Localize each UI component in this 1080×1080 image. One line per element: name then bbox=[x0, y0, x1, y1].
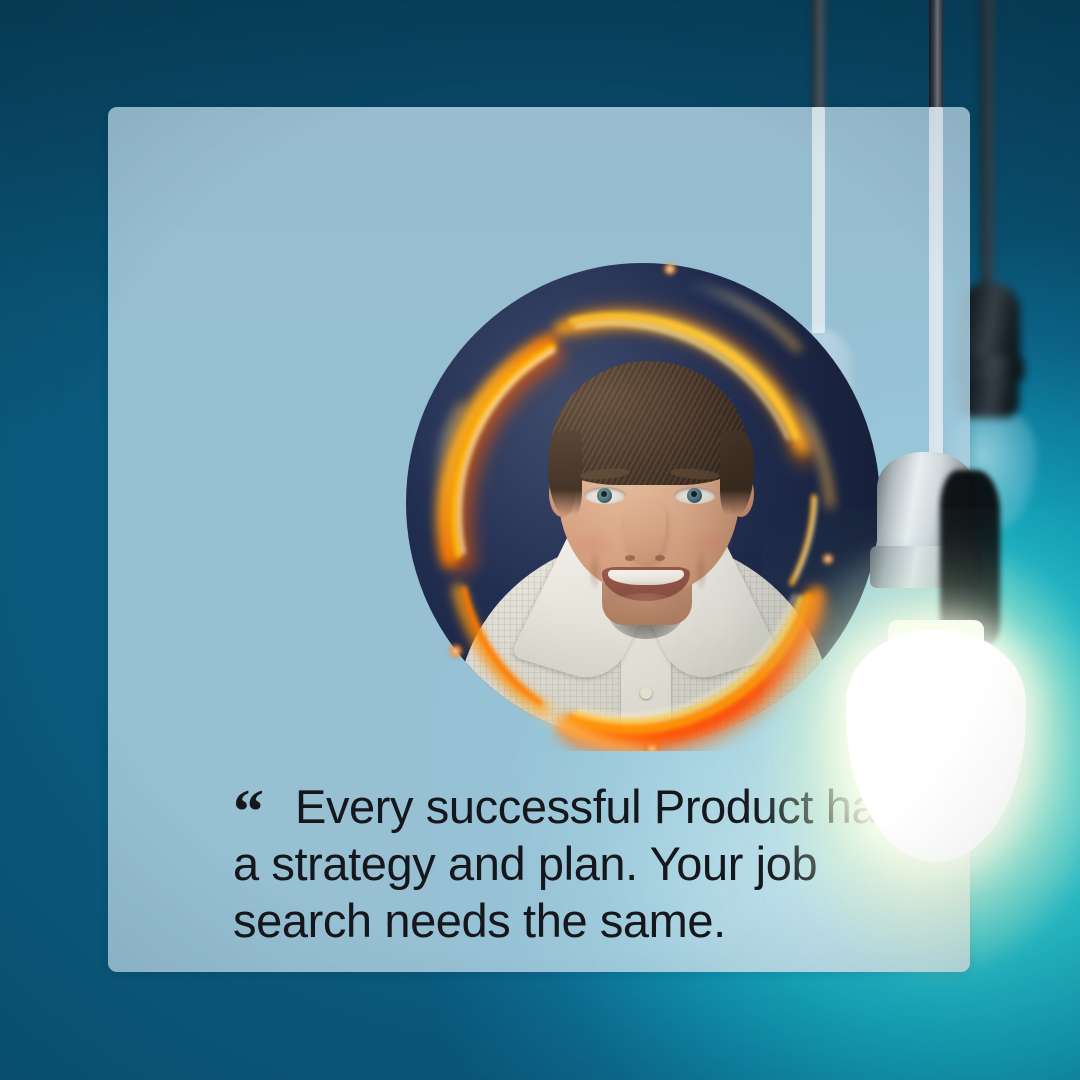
smile-line-left bbox=[588, 549, 602, 591]
quote-mark-icon: “ bbox=[233, 781, 262, 843]
lamp-socket-shadow-side bbox=[940, 470, 1000, 644]
nostril-right bbox=[655, 555, 665, 561]
teeth bbox=[608, 570, 684, 585]
iris-right bbox=[687, 488, 702, 503]
quote-graphic: “ Every successful Product has a strateg… bbox=[0, 0, 1080, 1080]
nostril-left bbox=[625, 555, 635, 561]
cord-through-card-center bbox=[929, 107, 943, 455]
eye-right bbox=[674, 487, 716, 504]
chin-highlight bbox=[612, 593, 680, 623]
shirt-button bbox=[640, 687, 652, 699]
lamp-cord bbox=[981, 0, 993, 290]
smile-line-right bbox=[694, 549, 708, 591]
hair-side-left bbox=[548, 431, 582, 515]
iris-left bbox=[597, 488, 612, 503]
eye-left bbox=[584, 487, 626, 504]
